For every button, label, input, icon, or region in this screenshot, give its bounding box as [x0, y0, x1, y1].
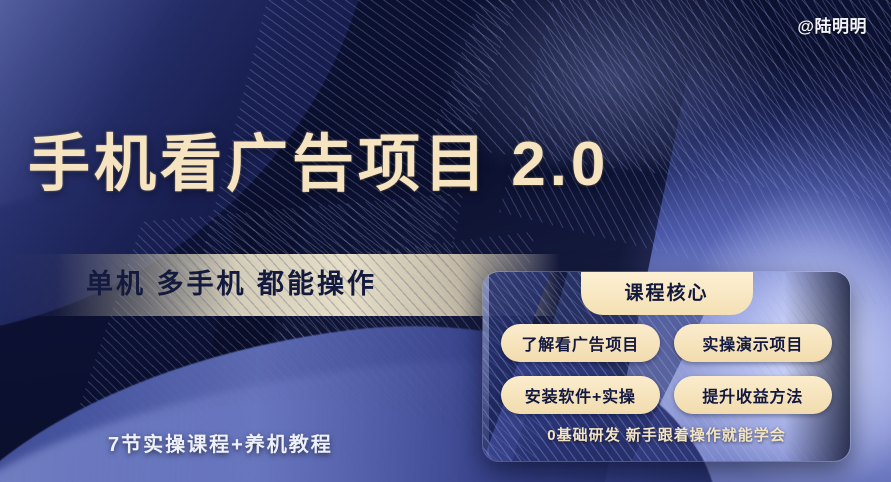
- panel-footer-note: 0基础研发 新手跟着操作就能学会: [483, 424, 850, 445]
- course-topic-label: 实操演示项目: [702, 331, 803, 355]
- panel-header-label: 课程核心: [624, 278, 708, 305]
- course-core-panel: 课程核心 了解看广告项目 实操演示项目 安装软件+实操 提升收益方法 0基础研发…: [483, 272, 850, 461]
- course-topic-label: 提升收益方法: [702, 383, 803, 407]
- course-topic-pill[interactable]: 提升收益方法: [674, 376, 833, 414]
- course-topic-label: 了解看广告项目: [521, 331, 639, 355]
- watermark-handle: @陆明明: [797, 12, 867, 37]
- panel-header-tab: 课程核心: [581, 272, 753, 315]
- course-topic-pill[interactable]: 实操演示项目: [674, 324, 833, 362]
- subtitle: 单机 多手机 都能操作: [86, 262, 377, 301]
- course-topic-pill[interactable]: 了解看广告项目: [501, 324, 660, 362]
- course-topic-pill[interactable]: 安装软件+实操: [501, 376, 660, 414]
- course-topic-list: 了解看广告项目 实操演示项目 安装软件+实操 提升收益方法: [483, 324, 850, 414]
- promo-poster: @陆明明 手机看广告项目 2.0 单机 多手机 都能操作 7节实操课程+养机教程…: [0, 0, 891, 482]
- panel-left-edge: [483, 272, 489, 461]
- course-topic-label: 安装软件+实操: [525, 383, 636, 407]
- page-title: 手机看广告项目 2.0: [28, 134, 609, 196]
- course-footnote: 7节实操课程+养机教程: [108, 428, 333, 457]
